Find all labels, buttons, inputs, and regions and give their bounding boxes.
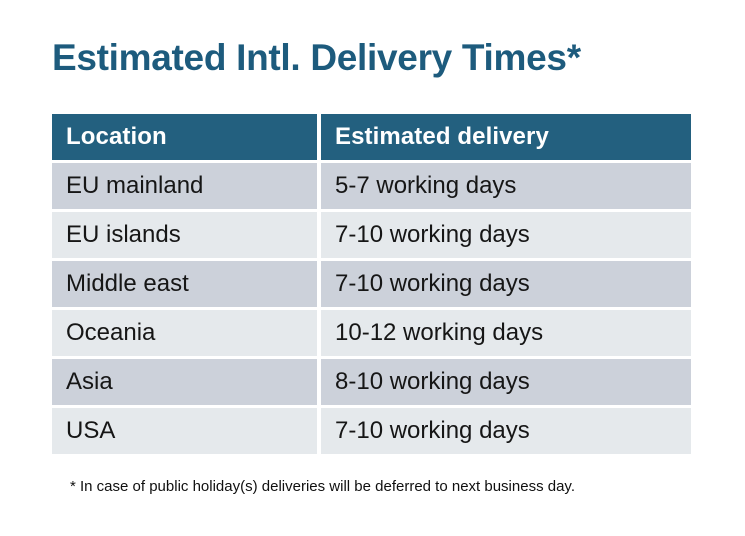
cell-estimated-delivery: 10-12 working days: [321, 310, 691, 356]
column-header-estimated-delivery: Estimated delivery: [321, 114, 691, 160]
cell-estimated-delivery: 7-10 working days: [321, 212, 691, 258]
table-row: EU mainland 5-7 working days: [52, 163, 691, 209]
cell-location: Asia: [52, 359, 317, 405]
cell-location: EU mainland: [52, 163, 317, 209]
cell-location: USA: [52, 408, 317, 454]
table-row: EU islands 7-10 working days: [52, 212, 691, 258]
cell-location: Middle east: [52, 261, 317, 307]
cell-location: EU islands: [52, 212, 317, 258]
cell-estimated-delivery: 7-10 working days: [321, 261, 691, 307]
footnote-text: * In case of public holiday(s) deliverie…: [70, 477, 575, 497]
cell-estimated-delivery: 5-7 working days: [321, 163, 691, 209]
cell-location: Oceania: [52, 310, 317, 356]
table-header-row: Location Estimated delivery: [52, 114, 691, 160]
cell-estimated-delivery: 8-10 working days: [321, 359, 691, 405]
table-row: Oceania 10-12 working days: [52, 310, 691, 356]
delivery-times-page: Estimated Intl. Delivery Times* Location…: [0, 0, 745, 536]
delivery-times-table: Location Estimated delivery EU mainland …: [52, 114, 691, 454]
column-header-location: Location: [52, 114, 317, 160]
cell-estimated-delivery: 7-10 working days: [321, 408, 691, 454]
table-row: USA 7-10 working days: [52, 408, 691, 454]
page-title: Estimated Intl. Delivery Times*: [52, 36, 581, 80]
table-row: Asia 8-10 working days: [52, 359, 691, 405]
table-row: Middle east 7-10 working days: [52, 261, 691, 307]
